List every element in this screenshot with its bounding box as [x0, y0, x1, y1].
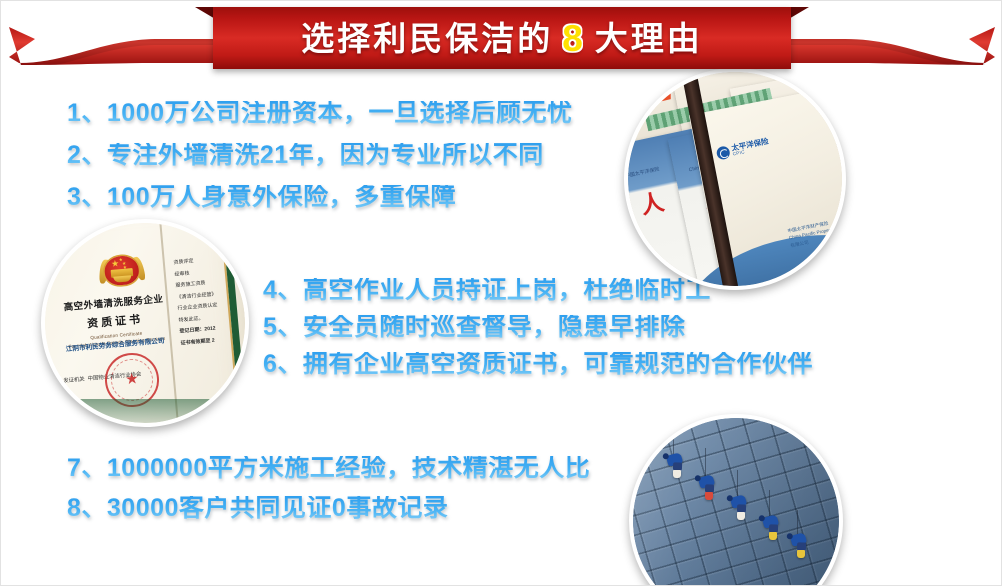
photo-window-cleaners [629, 414, 843, 586]
certificate-bottom-shadow [61, 399, 229, 423]
worker-bucket-2 [705, 492, 713, 500]
booklet-character-1: 人 [639, 190, 666, 217]
cpic-logo: 太平洋保险 CPIC [715, 137, 770, 160]
reason-item-1: 1、1000万公司注册资本，一旦选择后顾无忧 [67, 101, 573, 126]
banner-title: 选择利民保洁的 8 大理由 [301, 20, 703, 57]
banner-title-after: 大理由 [595, 22, 703, 55]
banner-title-before: 选择利民保洁的 [301, 22, 553, 55]
promotional-poster: 选择利民保洁的 8 大理由 1、1000万公司注册资本，一旦选择后顾无忧 2、专… [0, 0, 1002, 586]
reason-item-5: 5、安全员随时巡查督导，隐患早排除 [263, 315, 685, 340]
certificate-right-column: 资质评定 经审核 服务施工资质 《清洁行业经营》 行业企业资质认定 特发此证。 … [173, 252, 245, 349]
ribbon-tail-left-icon [9, 19, 245, 65]
reason-item-6: 6、拥有企业高空资质证书，可靠规范的合作伙伴 [263, 352, 813, 377]
worker-bucket-4 [769, 532, 777, 540]
banner-center-panel: 选择利民保洁的 8 大理由 [213, 7, 791, 69]
reason-item-8: 8、30000客户共同见证0事故记录 [67, 496, 448, 521]
photo-insurance-documents: 中国太平洋保险 人 China Pacific Insurance 人 太平洋保… [624, 68, 846, 290]
booklet-brand-line-1: 中国太平洋保险 [628, 167, 661, 182]
photo-qualification-certificate: ★ ★ ★ ★ ★ 高空外墙清洗服务企业 资质证书 Qualification … [41, 219, 249, 427]
worker-bucket-3 [737, 512, 745, 520]
window-cleaner-2 [698, 474, 715, 489]
worker-bucket-1 [673, 470, 681, 478]
reason-item-3: 3、100万人身意外保险，多重保障 [67, 185, 456, 210]
national-emblem-icon: ★ ★ ★ ★ ★ [97, 251, 146, 297]
reason-item-2: 2、专注外墙清洗21年，因为专业所以不同 [67, 143, 544, 168]
window-cleaner-4 [762, 514, 779, 529]
window-cleaner-5 [790, 532, 807, 547]
reason-item-7: 7、1000000平方米施工经验，技术精湛无人比 [67, 456, 590, 481]
window-cleaner-1 [666, 452, 683, 467]
cpic-mark-icon [715, 145, 730, 160]
ribbon-tail-right-icon [759, 19, 995, 65]
window-cleaner-3 [730, 494, 747, 509]
banner-number: 8 [562, 20, 586, 57]
title-ribbon: 选择利民保洁的 8 大理由 [1, 7, 1002, 75]
worker-bucket-5 [797, 550, 805, 558]
